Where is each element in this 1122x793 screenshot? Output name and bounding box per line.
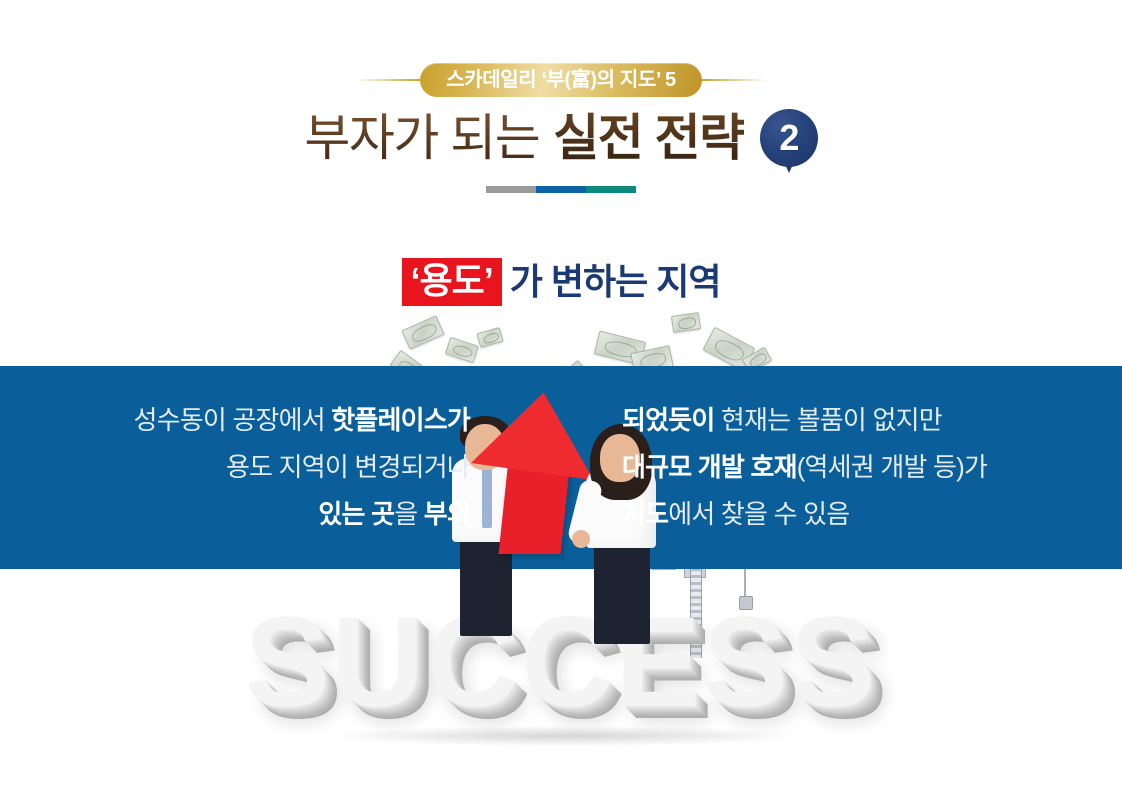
success-ground-shadow <box>330 726 800 746</box>
banner-right-column: 되었듯이 현재는 볼품이 없지만 대규모 개발 호재(역세권 개발 등)가 지도… <box>622 397 1122 538</box>
banner-right-line: 대규모 개발 호재(역세권 개발 등)가 <box>622 444 1122 491</box>
crane-mast <box>690 554 702 658</box>
subtitle-rest: 가 변하는 지역 <box>510 260 721 304</box>
money-bill-icon <box>445 337 479 363</box>
banner-text-run: (역세권 개발 등)가 <box>797 452 987 482</box>
banner-text-run: 부의 <box>424 499 470 529</box>
map-pin-icon: 2 <box>760 109 818 167</box>
badge-rule-right <box>702 79 764 81</box>
series-badge-row: 스카데일리 ‘부(富)의 지도’ 5 <box>0 62 1122 98</box>
page-title-light: 부자가 되는 <box>304 106 539 170</box>
series-badge-label: 스카데일리 ‘부(富)의 지도’ 5 <box>446 63 676 97</box>
money-bill-icon <box>401 315 444 350</box>
subtitle: ‘용도’ 가 변하는 지역 <box>402 258 721 306</box>
divider-segment-teal <box>586 186 636 193</box>
banner-right-line: 되었듯이 현재는 볼품이 없지만 <box>622 397 1122 444</box>
divider-segment-gray <box>486 186 536 193</box>
subtitle-row: ‘용도’ 가 변하는 지역 <box>0 258 1122 306</box>
banner-text-run: 용도 지역이 변경되거나 <box>226 452 470 482</box>
banner-right-line: 지도에서 찾을 수 있음 <box>622 491 1122 538</box>
money-bill-icon <box>671 312 701 333</box>
money-bill-icon <box>476 327 503 348</box>
crane-hook-line <box>744 564 746 598</box>
banner-text-run: 현재는 볼품이 없지만 <box>714 405 941 435</box>
banner-left-line: 용도 지역이 변경되거나 <box>28 444 470 491</box>
banner-text-run: 있는 곳 <box>318 499 394 529</box>
banner-text-run: 을 <box>394 499 424 529</box>
money-bill-icon <box>594 331 646 366</box>
success-wordmark: SUCCESS <box>0 588 1122 738</box>
banner-text-run: 성수동이 공장에서 <box>133 405 331 435</box>
banner-text-run: 핫플레이스가 <box>331 405 470 435</box>
page-title-row: 부자가 되는 실전 전략 2 <box>0 104 1122 172</box>
page-title: 부자가 되는 실전 전략 2 <box>304 106 817 170</box>
badge-rule-left <box>358 79 420 81</box>
banner-text-run: 대규모 개발 호재 <box>622 452 797 482</box>
banner-text-run: 에서 찾을 수 있음 <box>668 499 849 529</box>
map-pin-number: 2 <box>760 109 818 167</box>
tricolor-divider <box>0 186 1122 193</box>
page-title-strong: 실전 전략 <box>553 106 743 170</box>
banner-text-columns: 성수동이 공장에서 핫플레이스가 용도 지역이 변경되거나 있는 곳을 부의 되… <box>0 366 1122 569</box>
banner-left-column: 성수동이 공장에서 핫플레이스가 용도 지역이 변경되거나 있는 곳을 부의 <box>0 397 470 538</box>
banner-left-line: 있는 곳을 부의 <box>28 491 470 538</box>
banner-text-run: 지도 <box>622 499 668 529</box>
subtitle-highlight: ‘용도’ <box>402 258 502 306</box>
banner-left-line: 성수동이 공장에서 핫플레이스가 <box>28 397 470 444</box>
infographic-page: 스카데일리 ‘부(富)의 지도’ 5 부자가 되는 실전 전략 2 ‘용도’ 가… <box>0 0 1122 793</box>
money-bill-icon <box>703 327 756 372</box>
divider-segment-blue <box>536 186 586 193</box>
banner-text-run: 되었듯이 <box>622 405 714 435</box>
crane-hook <box>739 596 753 610</box>
series-badge: 스카데일리 ‘부(富)의 지도’ 5 <box>420 63 702 97</box>
